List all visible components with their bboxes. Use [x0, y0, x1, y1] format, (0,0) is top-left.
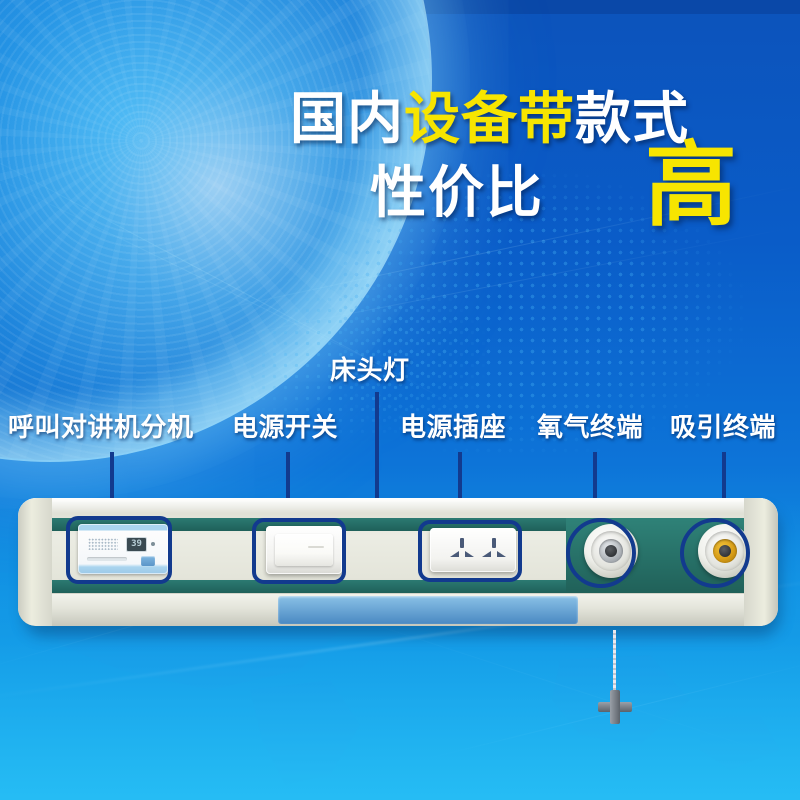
headline-seg-1: 国内	[290, 87, 404, 152]
headline-emphasis-char: 高	[645, 140, 737, 232]
pull-cord[interactable]	[613, 630, 616, 698]
headline-line-1: 国内设备带款式	[290, 92, 689, 148]
callout-label-socket: 电源插座	[400, 415, 506, 441]
highlight-box-socket	[418, 520, 522, 582]
highlight-box-switch	[252, 518, 346, 584]
pull-cord-handle[interactable]	[598, 690, 632, 724]
highlight-circle-suction	[680, 518, 750, 588]
panel-endcap-left	[18, 498, 52, 626]
highlight-box-intercom	[66, 516, 172, 584]
panel-endcap-right	[744, 498, 778, 626]
callout-label-bedlamp: 床头灯	[330, 358, 410, 384]
panel-blue-cover-strip	[278, 596, 578, 624]
headline-seg-2: 设备带	[404, 87, 575, 152]
headline-line-2: 性价比	[370, 166, 544, 222]
callout-label-oxygen: 氧气终端	[537, 415, 643, 441]
callout-label-suction: 吸引终端	[670, 415, 776, 441]
cord-handle-bar-vertical	[610, 690, 620, 724]
callout-label-intercom: 呼叫对讲机分机	[8, 415, 194, 441]
callout-label-switch: 电源开关	[232, 415, 338, 441]
promo-banner: 国内设备带款式 性价比 高 呼叫对讲机分机 电源开关 床头灯 电源插座 氧气终端…	[0, 0, 800, 800]
panel-top-highlight	[18, 498, 778, 514]
highlight-circle-oxygen	[566, 518, 636, 588]
